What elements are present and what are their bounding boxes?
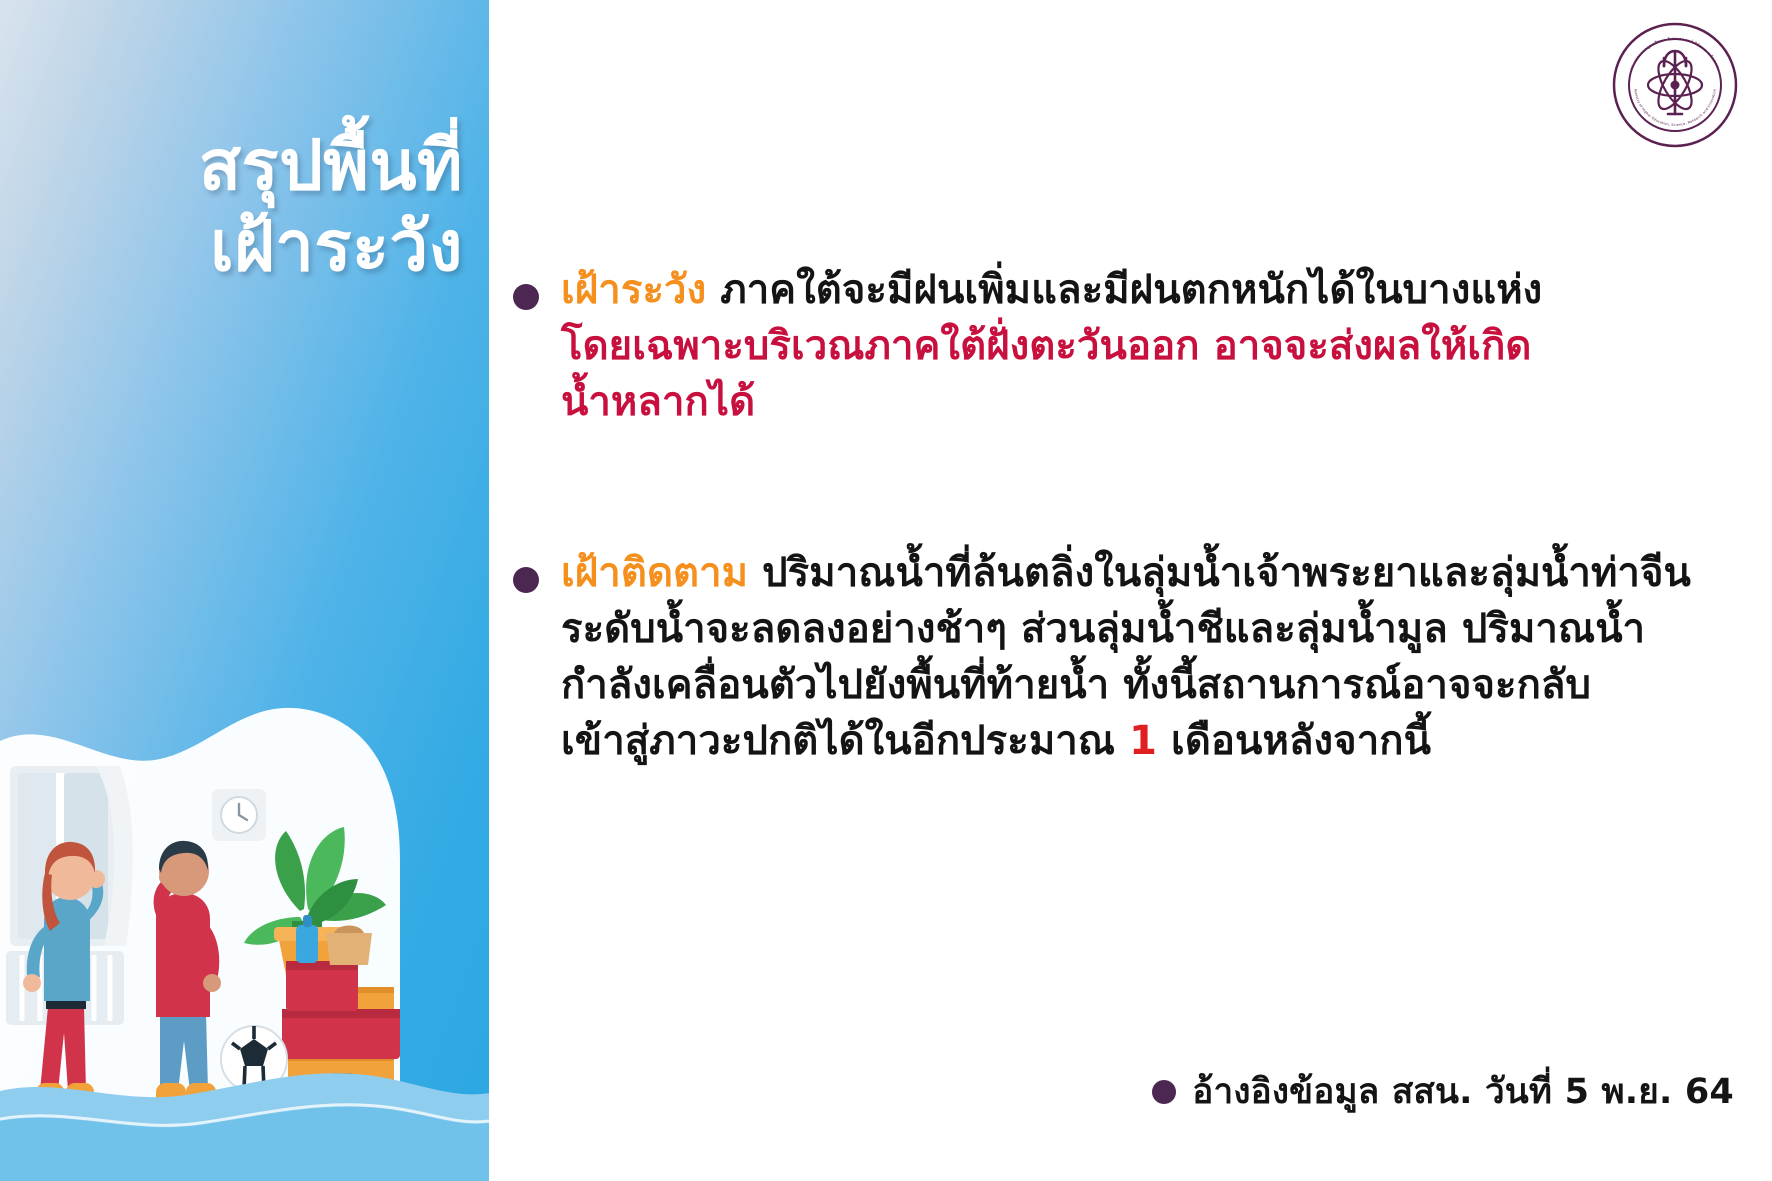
bullet-text-monitor-area: เฝ้าติดตาม ปริมาณน้ำที่ล้นตลิ่งในลุ่มน้ำ… (561, 545, 1743, 769)
flood-illustration (0, 621, 489, 1181)
bullet-item-monitor-area: เฝ้าติดตาม ปริมาณน้ำที่ล้นตลิ่งในลุ่มน้ำ… (513, 545, 1743, 769)
bullet-2-duration-number: 1 (1129, 718, 1157, 764)
bullet-2-line-3: กำลังเคลื่อนตัวไปยังพื้นที่ท้ายน้ำ ทั้งน… (561, 657, 1743, 713)
left-sidebar-panel: สรุปพื้นที่ เฝ้าระวัง (0, 0, 489, 1181)
source-footer: อ้างอิงข้อมูล สสน. วันที่ 5 พ.ย. 64 (1152, 1064, 1734, 1119)
bullet-2-line-4: เข้าสู่ภาวะปกติได้ในอีกประมาณ 1 เดือนหลั… (561, 713, 1743, 769)
ministry-logo: กระทรวงการอุดมศึกษา วิทยาศาสตร์ วิจัยและ… (1612, 22, 1738, 148)
bullet-2-line-4-post: เดือนหลังจากนี้ (1157, 718, 1431, 764)
slide-root: สรุปพื้นที่ เฝ้าระวัง (0, 0, 1772, 1181)
bullet-2-line-1-text: ปริมาณน้ำที่ล้นตลิ่งในลุ่มน้ำเจ้าพระยาแล… (748, 550, 1691, 596)
bullet-1-line-1-text: ภาคใต้จะมีฝนเพิ่มและมีฝนตกหนักได้ในบางแห… (706, 267, 1542, 313)
main-content-area: กระทรวงการอุดมศึกษา วิทยาศาสตร์ วิจัยและ… (489, 0, 1772, 1181)
bullet-2-line-1: เฝ้าติดตาม ปริมาณน้ำที่ล้นตลิ่งในลุ่มน้ำ… (561, 545, 1743, 601)
footer-bullet-dot-icon (1152, 1080, 1176, 1104)
bullet-2-tag: เฝ้าติดตาม (561, 550, 748, 596)
bullet-dot-icon (513, 284, 539, 310)
bullet-1-line-1: เฝ้าระวัง ภาคใต้จะมีฝนเพิ่มและมีฝนตกหนัก… (561, 262, 1693, 318)
footer-source-text: อ้างอิงข้อมูล สสน. วันที่ 5 พ.ย. 64 (1192, 1064, 1734, 1119)
slide-title: สรุปพื้นที่ เฝ้าระวัง (0, 126, 463, 289)
bullet-dot-icon (513, 567, 539, 593)
bullet-1-line-2: โดยเฉพาะบริเวณภาคใต้ฝั่งตะวันออก อาจจะส่… (561, 318, 1693, 374)
bullet-text-watch-area: เฝ้าระวัง ภาคใต้จะมีฝนเพิ่มและมีฝนตกหนัก… (561, 262, 1693, 430)
bullet-1-line-3: น้ำหลากได้ (561, 374, 1693, 430)
bullet-2-line-4-pre: เข้าสู่ภาวะปกติได้ในอีกประมาณ (561, 718, 1129, 764)
bullet-2-line-2: ระดับน้ำจะลดลงอย่างช้าๆ ส่วนลุ่มน้ำชีและ… (561, 601, 1743, 657)
bullet-item-watch-area: เฝ้าระวัง ภาคใต้จะมีฝนเพิ่มและมีฝนตกหนัก… (513, 262, 1693, 430)
bullet-1-tag: เฝ้าระวัง (561, 267, 706, 313)
